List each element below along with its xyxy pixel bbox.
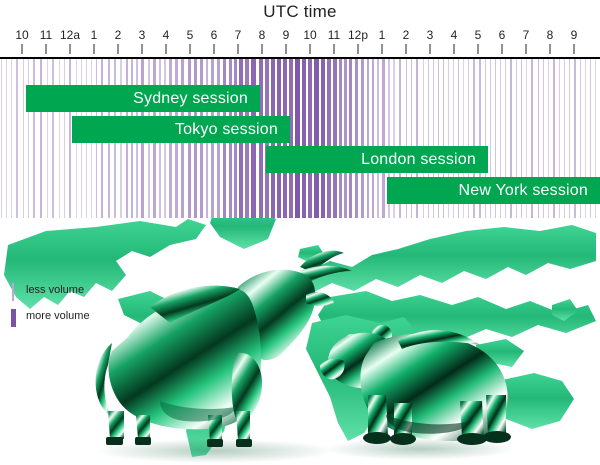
axis-tick-label: 11 <box>40 28 52 42</box>
axis-tick-mark <box>310 44 311 54</box>
axis-tick-mark <box>550 44 551 54</box>
session-bar-new-york-session[interactable]: New York session <box>387 177 600 204</box>
session-bar-london-session[interactable]: London session <box>266 146 488 173</box>
legend-label-more: more volume <box>26 310 90 322</box>
axis-tick-mark <box>334 44 335 54</box>
volume-stripe <box>314 59 319 218</box>
bear-statue <box>320 325 511 445</box>
axis-tick-mark <box>238 44 239 54</box>
volume-stripe <box>372 59 374 218</box>
axis-tick-label: 10 <box>303 28 316 42</box>
axis-tick-mark <box>382 44 383 54</box>
volume-stripe <box>355 59 358 218</box>
axis-tick-label: 11 <box>328 28 340 42</box>
bull-bear-svg <box>0 225 600 465</box>
volume-stripe <box>349 59 352 218</box>
axis-tick-label: 7 <box>235 28 242 42</box>
dark-stripe-swatch-icon <box>11 309 16 327</box>
legend-item-more: more volume <box>8 307 138 333</box>
axis-tick-label: 3 <box>139 28 146 42</box>
axis-tick-mark <box>142 44 143 54</box>
axis-tick-mark <box>262 44 263 54</box>
axis-tick-mark <box>430 44 431 54</box>
axis-tick-mark <box>406 44 407 54</box>
axis-tick-mark <box>94 44 95 54</box>
volume-stripe <box>344 59 347 218</box>
axis-tick-mark <box>166 44 167 54</box>
volume-stripe <box>333 59 337 218</box>
axis-tick-mark <box>286 44 287 54</box>
legend-label-less: less volume <box>26 284 84 296</box>
volume-stripe <box>69 59 71 218</box>
axis-tick-label: 9 <box>283 28 290 42</box>
axis-tick-mark <box>118 44 119 54</box>
axis-tick-mark <box>502 44 503 54</box>
bear-shadow <box>325 438 515 460</box>
axis-tick-label: 2 <box>403 28 410 42</box>
axis-tick-label: 2 <box>115 28 122 42</box>
volume-stripe <box>23 59 24 218</box>
volume-stripe <box>40 59 42 218</box>
volume-stripe <box>308 59 312 218</box>
volume-stripe <box>327 59 331 218</box>
volume-stripe <box>382 59 385 218</box>
axis-tick-label: 3 <box>427 28 434 42</box>
forex-session-chart: UTC time 101112a123456789101112p12345678… <box>0 0 600 465</box>
axis-tick-mark <box>22 44 23 54</box>
axis-tick-label: 5 <box>187 28 194 42</box>
volume-stripe <box>47 59 48 218</box>
volume-stripe <box>295 59 300 218</box>
axis-tick-mark <box>214 44 215 54</box>
volume-stripe <box>11 59 12 218</box>
axis-tick-label: 9 <box>571 28 578 42</box>
volume-stripe <box>377 59 379 218</box>
axis-tick-mark <box>478 44 479 54</box>
volume-stripe <box>33 59 35 218</box>
page-title: UTC time <box>0 2 600 22</box>
volume-stripe <box>1 59 2 218</box>
bull-and-bear-figures <box>0 225 600 465</box>
volume-legend: less volume more volume <box>8 281 138 333</box>
volume-stripe <box>367 59 369 218</box>
light-stripe-swatch-icon <box>12 283 14 301</box>
axis-tick-label: 4 <box>451 28 458 42</box>
axis-tick-label: 12a <box>60 28 80 42</box>
volume-stripe <box>52 59 54 218</box>
axis-tick-label: 12p <box>348 28 368 42</box>
axis-tick-label: 10 <box>15 28 28 42</box>
axis-tick-label: 4 <box>163 28 170 42</box>
volume-stripe <box>64 59 65 218</box>
volume-stripe <box>16 59 18 218</box>
session-bar-tokyo-session[interactable]: Tokyo session <box>72 116 290 143</box>
axis-tick-mark <box>454 44 455 54</box>
volume-stripe <box>6 59 7 218</box>
axis-tick-mark <box>358 44 359 54</box>
volume-stripe <box>28 59 29 218</box>
axis-tick-label: 1 <box>379 28 386 42</box>
volume-stripe <box>321 59 325 218</box>
axis-tick-mark <box>46 44 47 54</box>
axis-tick-label: 6 <box>499 28 506 42</box>
volume-stripe <box>339 59 342 218</box>
legend-item-less: less volume <box>8 281 138 307</box>
volume-stripe <box>361 59 364 218</box>
axis-tick-mark <box>526 44 527 54</box>
axis-tick-label: 8 <box>547 28 554 42</box>
axis-tick-mark <box>70 44 71 54</box>
axis-tick-mark <box>574 44 575 54</box>
volume-stripe <box>59 59 60 218</box>
axis-tick-label: 6 <box>211 28 218 42</box>
axis-tick-label: 1 <box>91 28 98 42</box>
time-axis: 101112a123456789101112p123456789 <box>0 28 600 60</box>
axis-tick-mark <box>190 44 191 54</box>
session-bar-sydney-session[interactable]: Sydney session <box>26 85 260 112</box>
volume-stripe <box>302 59 306 218</box>
axis-tick-label: 5 <box>475 28 482 42</box>
axis-tick-label: 7 <box>523 28 530 42</box>
axis-tick-label: 8 <box>259 28 266 42</box>
